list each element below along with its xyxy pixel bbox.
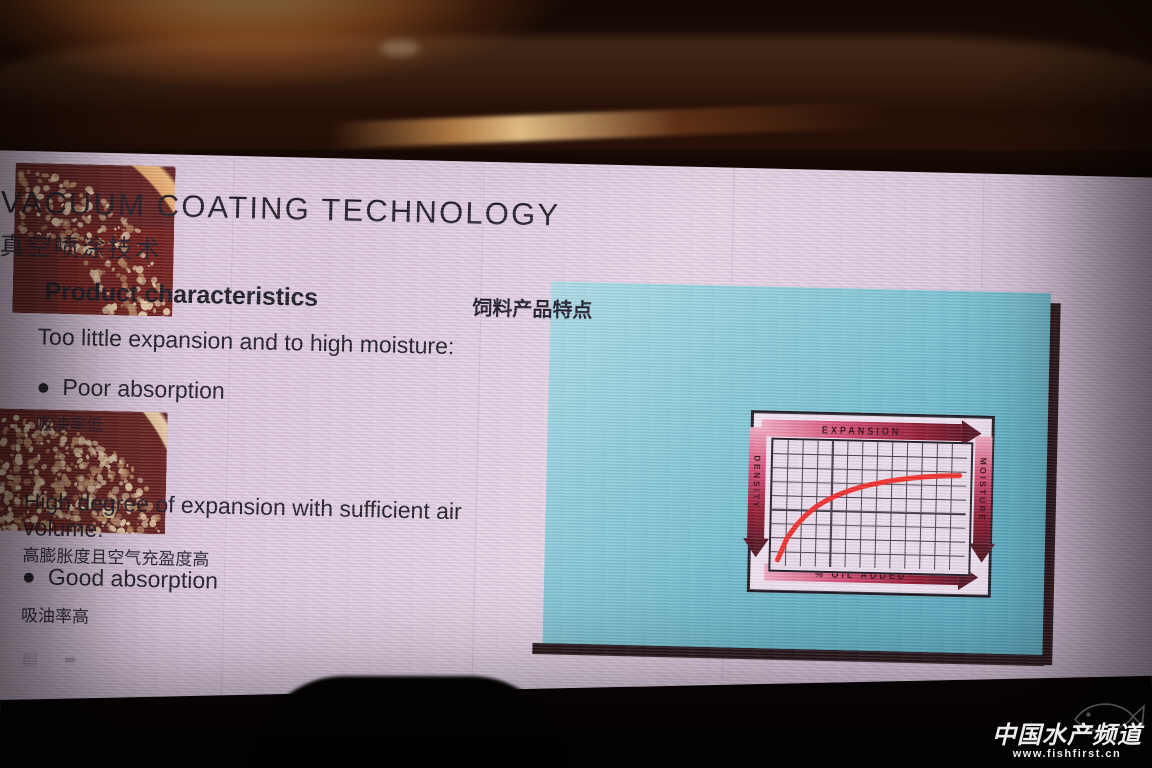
watermark-url: www.fishfirst.cn xyxy=(992,748,1142,760)
product-image-panel: EXPANSION % OIL ADDED DENSITY MOISTURE xyxy=(543,281,1051,655)
ceiling-spotlight xyxy=(380,40,420,56)
chart-plot-area xyxy=(768,438,973,577)
next-arrow-icon[interactable]: ➨ xyxy=(64,650,79,670)
block1-lead: Too little expansion and to high moistur… xyxy=(37,323,454,360)
panel-bottom-bar xyxy=(532,643,1044,666)
slide-title-cn: 真空喷涂技术 xyxy=(0,226,162,266)
chart-svg xyxy=(770,440,967,571)
moisture-arrow: MOISTURE xyxy=(973,436,993,562)
moisture-arrow-label: MOISTURE xyxy=(977,458,989,523)
block1-bullet-label: Poor absorption xyxy=(62,374,225,404)
bullet-marker-2: ● xyxy=(22,563,49,591)
slide-content: EXPANSION % OIL ADDED DENSITY MOISTURE xyxy=(0,150,1152,738)
block2-bullet: ●Good absorption xyxy=(22,563,219,595)
bullet-marker-1: ● xyxy=(36,373,63,401)
pen-icon[interactable]: ✎ xyxy=(0,648,1,668)
density-arrow-label: DENSITY xyxy=(751,456,762,511)
menu-icon[interactable]: ▤ xyxy=(22,649,39,669)
block1-note-cn: 吸油率低 xyxy=(35,409,104,436)
block2-bullet-label: Good absorption xyxy=(48,564,219,594)
photo-stage: EXPANSION % OIL ADDED DENSITY MOISTURE xyxy=(0,0,1152,768)
density-arrow: DENSITY xyxy=(747,427,767,557)
projection-screen: EXPANSION % OIL ADDED DENSITY MOISTURE xyxy=(0,150,1152,738)
presenter-controls[interactable]: ✎ ▤ ➨ xyxy=(0,648,106,677)
expansion-arrow-label: EXPANSION xyxy=(822,424,902,437)
watermark: 中国水产频道 www.fishfirst.cn xyxy=(992,715,1142,760)
foreground-dark-band-2 xyxy=(0,724,1152,768)
oil-absorption-chart: EXPANSION % OIL ADDED DENSITY MOISTURE xyxy=(747,410,995,598)
block2-note-cn: 吸油率高 xyxy=(21,601,90,628)
audience-head-silhouette xyxy=(250,676,570,768)
watermark-cn: 中国水产频道 xyxy=(992,715,1142,750)
slide-subtitle-cn: 饲料产品特点 xyxy=(472,292,593,324)
block1-bullet: ●Poor absorption xyxy=(36,373,225,404)
